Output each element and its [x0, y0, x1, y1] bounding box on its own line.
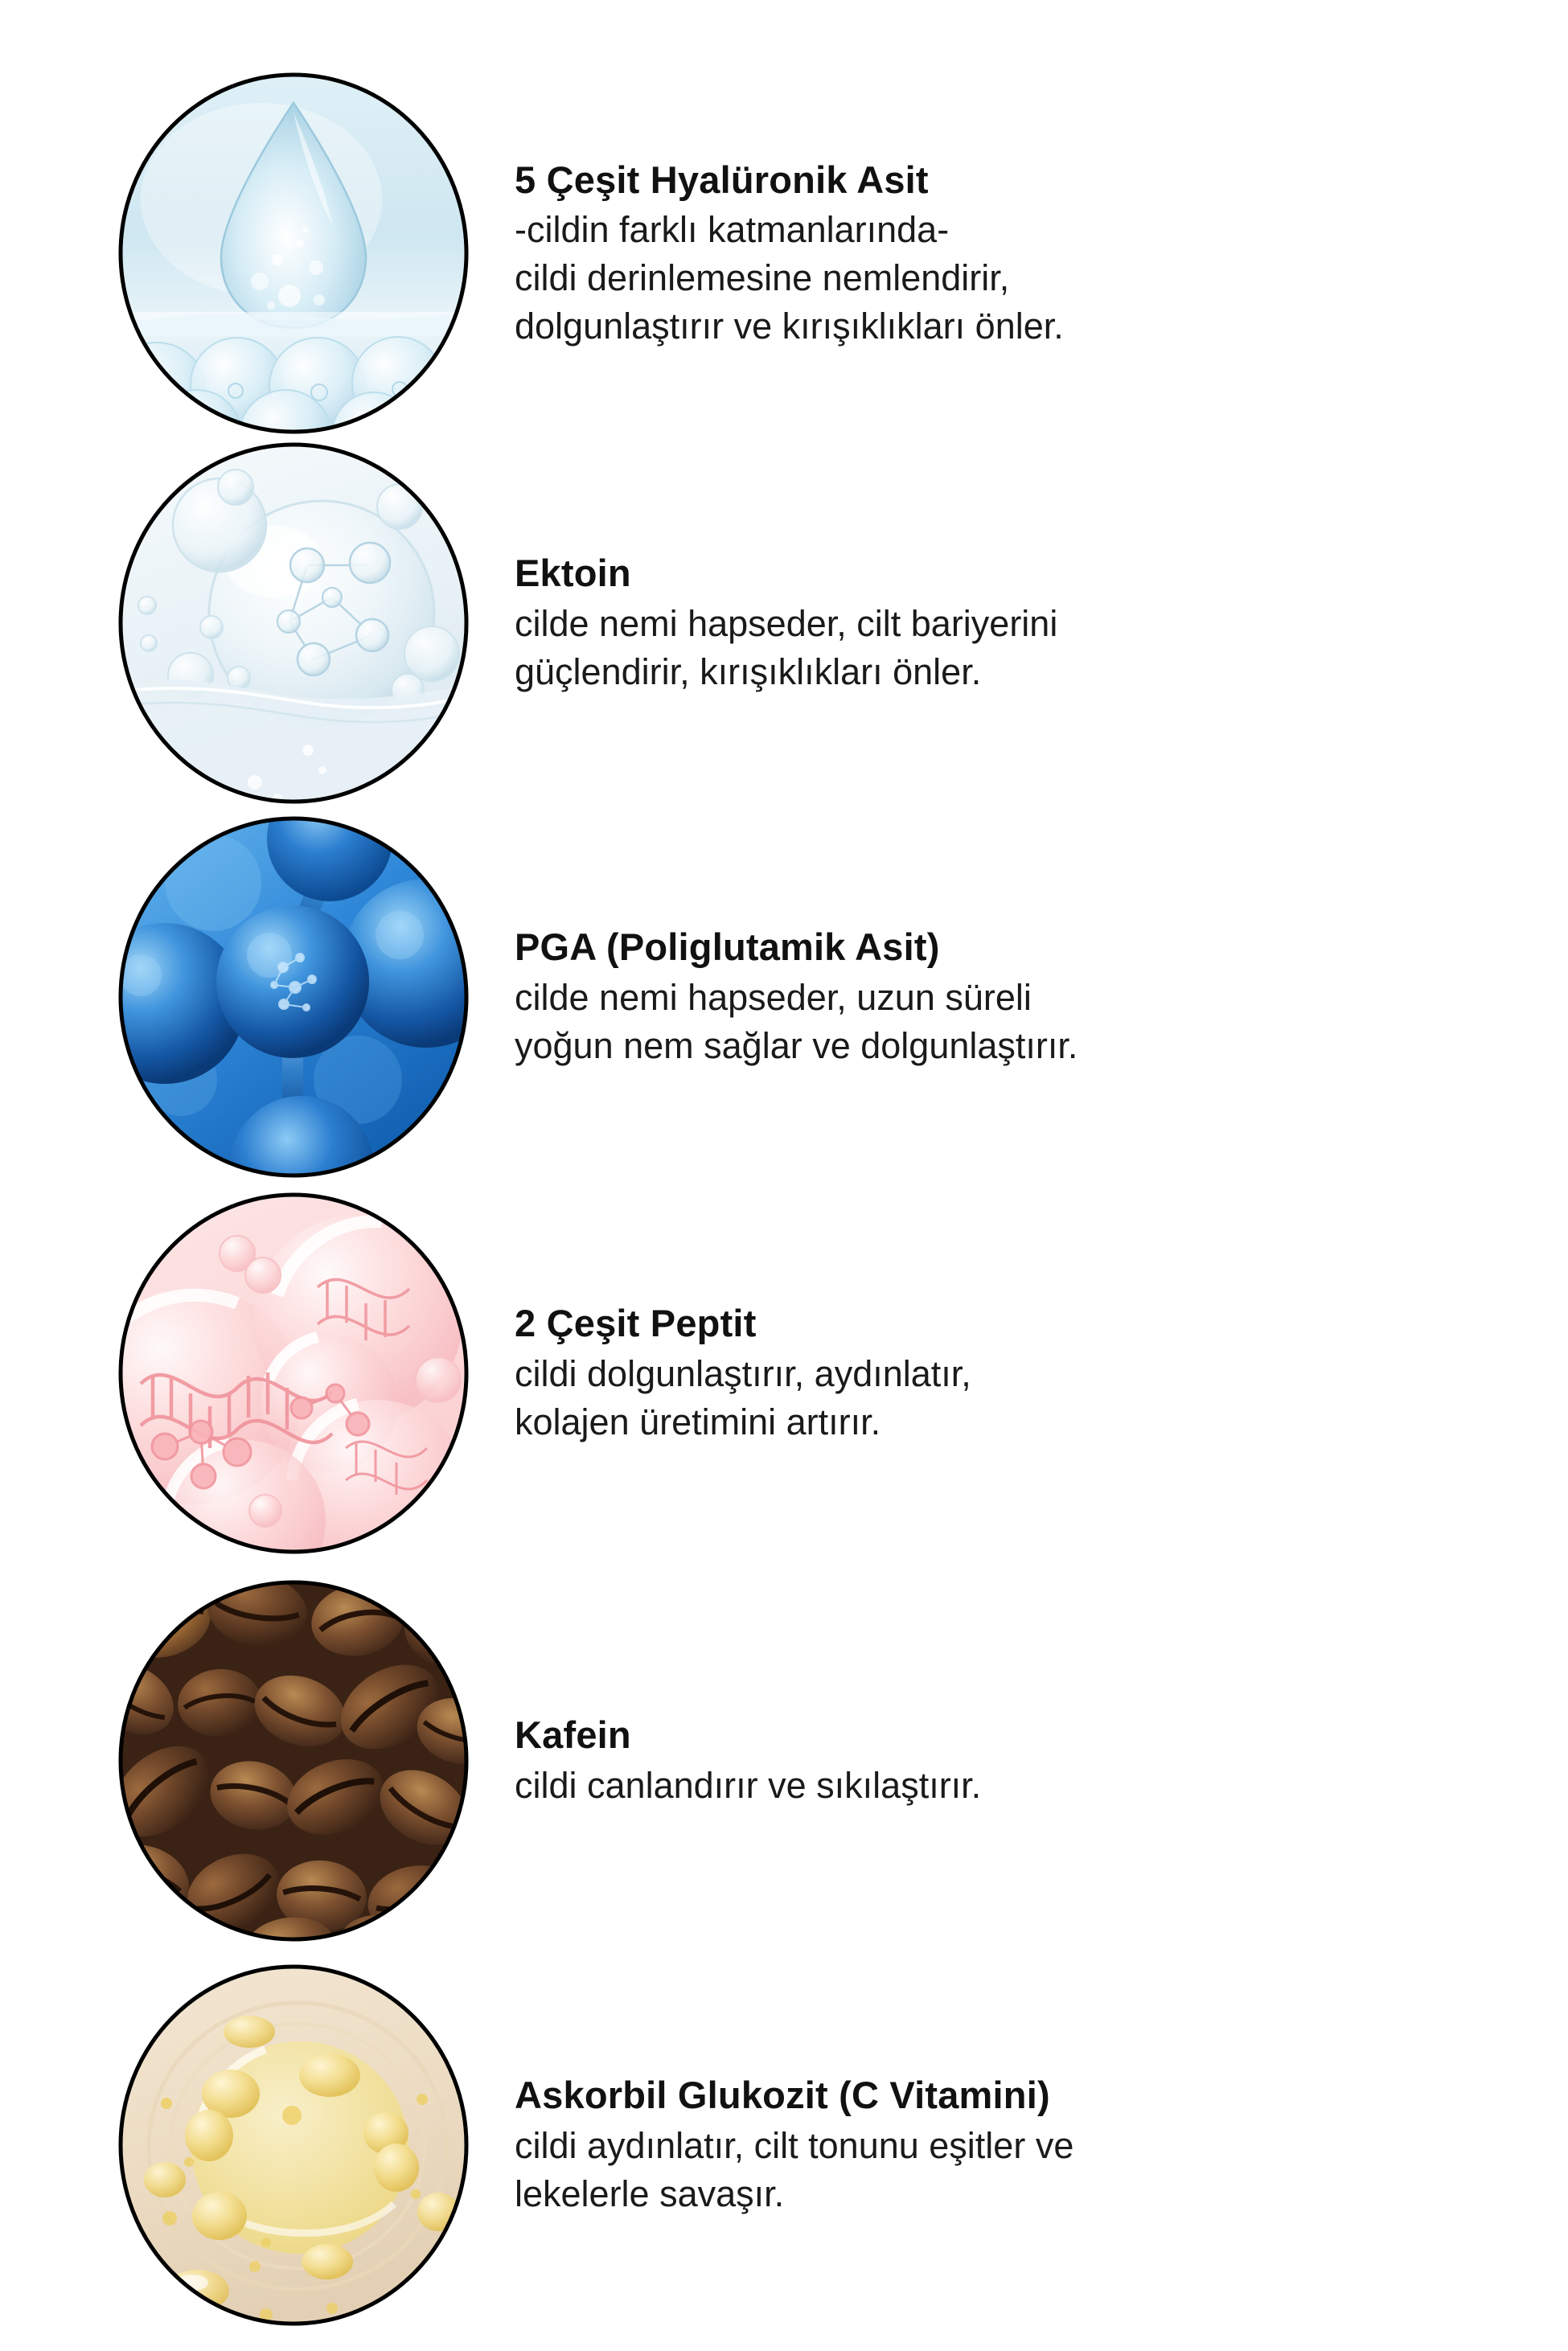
desc-line: cilde nemi hapseder, uzun süreli [515, 974, 1504, 1022]
ingredient-title: 2 Çeşit Peptit [515, 1300, 1504, 1346]
desc-line: dolgunlaştırır ve kırışıklıkları önler. [515, 302, 1504, 351]
vitamin-c-oil-circle [117, 1963, 470, 2328]
ingredient-text: PGA (Poliglutamik Asit) cilde nemi hapse… [515, 924, 1504, 1069]
desc-line: cildi aydınlatır, cilt tonunu eşitler ve [515, 2122, 1504, 2170]
ingredient-list-page: 5 Çeşit Hyalüronik Asit -cildin farklı k… [0, 0, 1568, 2351]
ingredient-row: 2 Çeşit Peptit cildi dolgunlaştırır, ayd… [0, 1188, 1568, 1558]
ingredient-description: cilde nemi hapseder, uzun süreli yoğun n… [515, 974, 1504, 1070]
ingredient-title: Kafein [515, 1712, 1504, 1758]
ingredient-text: Ektoin cilde nemi hapseder, cilt bariyer… [515, 550, 1504, 695]
ingredient-row: PGA (Poliglutamik Asit) cilde nemi hapse… [0, 812, 1568, 1182]
ingredient-description: cildi dolgunlaştırır, aydınlatır, kolaje… [515, 1350, 1504, 1446]
ingredient-text: 2 Çeşit Peptit cildi dolgunlaştırır, ayd… [515, 1300, 1504, 1446]
ektoin-illustration [117, 441, 470, 806]
pga-illustration [117, 814, 470, 1180]
ingredient-title: PGA (Poliglutamik Asit) [515, 924, 1504, 970]
desc-line: kolajen üretimini artırır. [515, 1398, 1504, 1446]
coffee-beans-illustration [117, 1578, 470, 1944]
ingredient-text: Kafein cildi canlandırır ve sıkılaştırır… [515, 1712, 1504, 1809]
desc-line: cilde nemi hapseder, cilt bariyerini [515, 600, 1504, 648]
ingredient-row: 5 Çeşit Hyalüronik Asit -cildin farklı k… [0, 64, 1568, 442]
desc-line: yoğun nem sağlar ve dolgunlaştırır. [515, 1022, 1504, 1070]
desc-line: cildi derinlemesine nemlendirir, [515, 254, 1504, 302]
ingredient-description: cildi aydınlatır, cilt tonunu eşitler ve… [515, 2122, 1504, 2218]
water-droplet-circle [117, 71, 470, 437]
ingredient-description: cilde nemi hapseder, cilt bariyerini güç… [515, 600, 1504, 696]
desc-line: lekelerle savaşır. [515, 2170, 1504, 2218]
ingredient-description: -cildin farklı katmanlarında- cildi deri… [515, 206, 1504, 351]
desc-line: cildi canlandırır ve sıkılaştırır. [515, 1762, 1504, 1810]
ingredient-text: Askorbil Glukozit (C Vitamini) cildi ayd… [515, 2072, 1504, 2218]
ingredient-title: 5 Çeşit Hyalüronik Asit [515, 157, 1504, 203]
ektoin-bubbles-circle [117, 441, 470, 806]
ingredient-title: Ektoin [515, 550, 1504, 596]
ingredient-row: Kafein cildi canlandırır ve sıkılaştırır… [0, 1576, 1568, 1946]
ingredient-description: cildi canlandırır ve sıkılaştırır. [515, 1762, 1504, 1810]
desc-line: güçlendirir, kırışıklıkları önler. [515, 648, 1504, 696]
vitamin-c-illustration [117, 1963, 470, 2328]
water-droplet-illustration [117, 71, 470, 437]
ingredient-title: Askorbil Glukozit (C Vitamini) [515, 2072, 1504, 2118]
pga-blue-molecule-circle [117, 814, 470, 1180]
ingredient-row: Ektoin cilde nemi hapseder, cilt bariyer… [0, 438, 1568, 808]
ingredient-text: 5 Çeşit Hyalüronik Asit -cildin farklı k… [515, 157, 1504, 351]
peptide-illustration [117, 1191, 470, 1557]
ingredient-row: Askorbil Glukozit (C Vitamini) cildi ayd… [0, 1960, 1568, 2330]
coffee-beans-circle [117, 1578, 470, 1944]
desc-line: -cildin farklı katmanlarında- [515, 206, 1504, 254]
peptide-pink-dna-circle [117, 1191, 470, 1557]
desc-line: cildi dolgunlaştırır, aydınlatır, [515, 1350, 1504, 1398]
